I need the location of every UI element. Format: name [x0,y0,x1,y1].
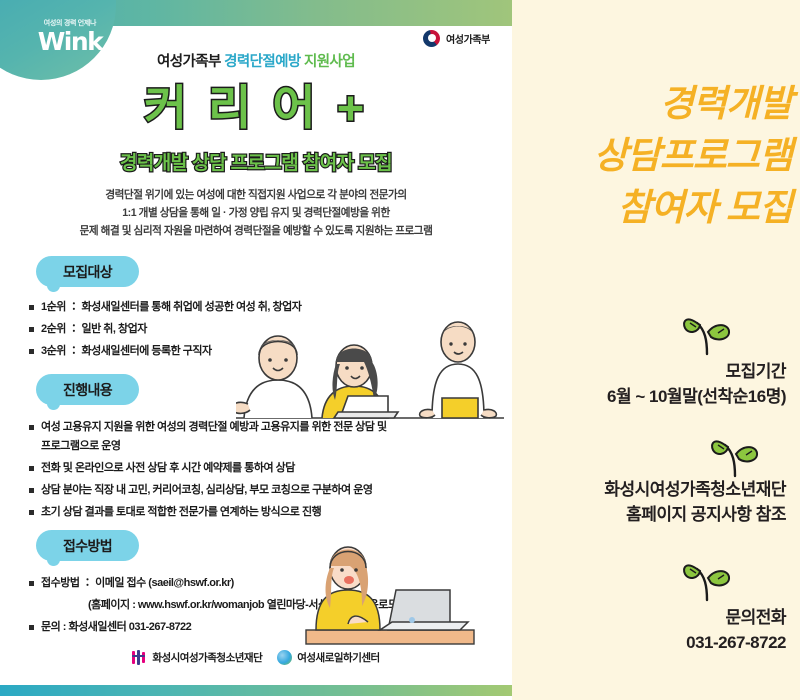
sidebar-block-period: 모집기간 6월 ~ 10월말(선착순16명) [512,360,800,410]
footer-logo-label: 여성새로일하기센터 [297,650,379,665]
description-line: 문제 해결 및 심리적 자원을 마련하여 경력단절을 예방할 수 있도록 지원하… [26,222,486,240]
sidebar-headline: 경력개발 상담프로그램 참여자 모집 [512,78,800,234]
list-item: 초기 상담 결과를 토대로 적합한 전문가를 연계하는 방식으로 진행 [28,503,488,522]
program-content-list: 여성 고용유지 지원을 위한 여성의 경력단절 예방과 고용유지를 위한 전문 … [28,418,488,525]
footer-logo-label: 화성시여성가족청소년재단 [152,650,262,665]
government-logo-label: 여성가족부 [446,31,490,46]
section-badge-program-content: 진행내용 [36,374,139,405]
kicker-part-2: 경력단절예방 [224,54,300,70]
sidebar-panel: 경력개발 상담프로그램 참여자 모집 모집기간 6월 ~ 10월말(선착순16명… [512,0,800,700]
poster-subtitle-band: 경력개발 상담 프로그램 참여자 모집 [0,148,512,175]
poster-description: 경력단절 위기에 있는 여성에 대한 직접지원 사업으로 각 분야의 전문가의 … [26,186,486,240]
section-badge-recruitment-target: 모집대상 [36,256,139,287]
sidebar-block-heading: 문의전화 [512,606,786,630]
saeil-center-globe-mark [277,650,292,665]
recruitment-target-list: 1순위 ： 화성새일센터를 통해 취업에 성공한 여성 취, 창업자 2순위 ：… [28,298,478,364]
list-item: 3순위 ： 화성새일센터에 등록한 구직자 [28,342,478,361]
sidebar-headline-line-1: 경력개발 [512,78,792,130]
sidebar-block-heading: 화성시여성가족청소년재단 [512,478,786,502]
section-badge-application-method: 접수방법 [36,530,139,561]
sprout-icon [680,556,734,602]
poster-body: 여성의 경력 언제나 Wink 여성가족부 여성가족부 경력단절예방 지원사업 … [0,0,512,700]
kicker-part-1: 여성가족부 [157,54,224,70]
sidebar-block-value: 6월 ~ 10월말(선착순16명) [512,384,786,410]
sidebar-headline-line-2: 상담프로그램 [512,130,792,182]
list-item: 전화 및 온라인으로 사전 상담 후 시간 예약제를 통하여 상담 [28,459,488,478]
poster-kicker: 여성가족부 경력단절예방 지원사업 [0,50,512,71]
sprout-icon [680,310,734,356]
poster-subtitle: 경력개발 상담 프로그램 참여자 모집 [120,148,392,175]
poster-title: 커 리 어 + [0,78,512,138]
poster-page: 여성의 경력 언제나 Wink 여성가족부 여성가족부 경력단절예방 지원사업 … [0,0,800,700]
list-item: 1순위 ： 화성새일센터를 통해 취업에 성공한 여성 취, 창업자 [28,298,478,317]
hwaseong-foundation-mark [132,650,147,665]
list-item-continuation: 프로그램으로 운영 [28,437,488,456]
list-item: 여성 고용유지 지원을 위한 여성의 경력단절 예방과 고용유지를 위한 전문 … [28,418,488,437]
sidebar-block-value: 031-267-8722 [512,630,786,656]
bottom-gradient-bar [0,685,512,696]
sprout-icon [708,432,762,478]
sidebar-headline-line-3: 참여자 모집 [512,182,792,234]
list-item: 상담 분야는 직장 내 고민, 커리어코칭, 심리상담, 부모 코칭으로 구분하… [28,481,488,500]
government-logo: 여성가족부 [423,30,490,47]
description-line: 1:1 개별 상담을 통해 일 · 가정 양립 유지 및 경력단절예방을 위한 [26,204,486,222]
kicker-part-3: 지원사업 [301,54,355,70]
sidebar-block-foundation: 화성시여성가족청소년재단 홈페이지 공지사항 참조 [512,478,800,528]
footer-logo-foundation: 화성시여성가족청소년재단 [132,650,262,665]
korea-government-taegeuk-mark [423,30,440,47]
sidebar-block-value: 홈페이지 공지사항 참조 [512,502,786,528]
footer-logo-saeil: 여성새로일하기센터 [277,650,379,665]
description-line: 경력단절 위기에 있는 여성에 대한 직접지원 사업으로 각 분야의 전문가의 [26,186,486,204]
woman-with-laptop-illustration [292,532,488,648]
poster-footer-logos: 화성시여성가족청소년재단 여성새로일하기센터 [0,650,512,665]
list-item: 2순위 ： 일반 취, 창업자 [28,320,478,339]
sidebar-block-contact: 문의전화 031-267-8722 [512,606,800,656]
sidebar-block-heading: 모집기간 [512,360,786,384]
